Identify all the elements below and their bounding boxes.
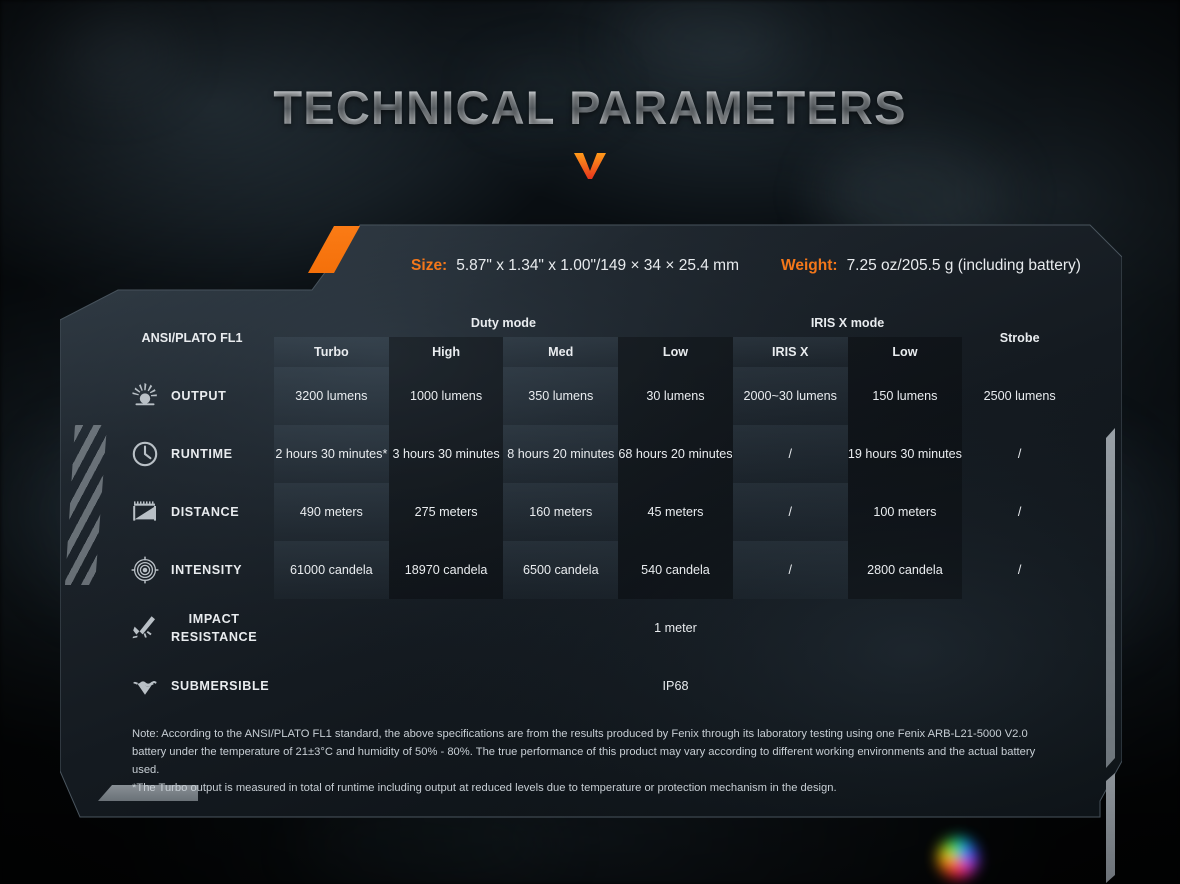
row-label-text: RUNTIME xyxy=(171,445,233,463)
table-corner-label: ANSI/PLATO FL1 xyxy=(110,309,274,367)
cell-output-turbo: 3200 lumens xyxy=(274,367,389,425)
target-intensity-icon xyxy=(130,555,160,585)
table-body: OUTPUT 3200 lumens 1000 lumens 350 lumen… xyxy=(110,367,1077,715)
spec-panel: Size: 5.87" x 1.34" x 1.00"/149 × 34 × 2… xyxy=(60,205,1122,825)
cell-distance-iris-low: 100 meters xyxy=(848,483,963,541)
column-header-iris-x: IRIS X xyxy=(733,337,848,367)
row-label-text: IMPACT RESISTANCE xyxy=(171,610,257,647)
size-label: Size: xyxy=(411,257,447,275)
chevron-down-icon xyxy=(573,152,607,180)
cell-output-iris-x: 2000~30 lumens xyxy=(733,367,848,425)
row-label-text: SUBMERSIBLE xyxy=(171,677,269,695)
cell-distance-med: 160 meters xyxy=(503,483,618,541)
impact-resistance-icon xyxy=(130,613,160,643)
size-weight-bar: Size: 5.87" x 1.34" x 1.00"/149 × 34 × 2… xyxy=(360,225,1122,307)
cell-output-strobe: 2500 lumens xyxy=(962,367,1077,425)
footnote-line-1: Note: According to the ANSI/PLATO FL1 st… xyxy=(132,725,1062,779)
cell-distance-turbo: 490 meters xyxy=(274,483,389,541)
cell-intensity-high: 18970 candela xyxy=(389,541,504,599)
cell-intensity-turbo: 61000 candela xyxy=(274,541,389,599)
cell-runtime-high: 3 hours 30 minutes xyxy=(389,425,504,483)
cell-submersible-value: IP68 xyxy=(274,657,1077,715)
row-label-text: OUTPUT xyxy=(171,387,226,405)
cell-impact-resistance-value: 1 meter xyxy=(274,599,1077,657)
row-label-runtime: RUNTIME xyxy=(110,425,274,483)
table-row: INTENSITY 61000 candela 18970 candela 65… xyxy=(110,541,1077,599)
cell-output-low: 30 lumens xyxy=(618,367,733,425)
table-row: DISTANCE 490 meters 275 meters 160 meter… xyxy=(110,483,1077,541)
cell-runtime-iris-x: / xyxy=(733,425,848,483)
row-label-text: DISTANCE xyxy=(171,503,239,521)
cell-distance-iris-x: / xyxy=(733,483,848,541)
column-header-turbo: Turbo xyxy=(274,337,389,367)
cell-distance-high: 275 meters xyxy=(389,483,504,541)
right-accent-bar xyxy=(1106,428,1115,768)
cell-intensity-med: 6500 candela xyxy=(503,541,618,599)
row-label-submersible: SUBMERSIBLE xyxy=(110,657,274,715)
cell-intensity-iris-x: / xyxy=(733,541,848,599)
table-header: ANSI/PLATO FL1 Duty mode IRIS X mode Str… xyxy=(110,309,1077,367)
cell-output-high: 1000 lumens xyxy=(389,367,504,425)
cell-output-iris-low: 150 lumens xyxy=(848,367,963,425)
row-label-text: INTENSITY xyxy=(171,561,242,579)
cell-intensity-low: 540 candela xyxy=(618,541,733,599)
cell-intensity-iris-low: 2800 candela xyxy=(848,541,963,599)
table-header-groups: ANSI/PLATO FL1 Duty mode IRIS X mode Str… xyxy=(110,309,1077,337)
group-header-strobe: Strobe xyxy=(962,309,1077,367)
footnote-line-2: *The Turbo output is measured in total o… xyxy=(132,779,1062,797)
right-accent-bar-lower xyxy=(1106,773,1115,883)
column-header-high: High xyxy=(389,337,504,367)
weight-value: 7.25 oz/205.5 g (including battery) xyxy=(847,257,1081,275)
table-row: RUNTIME 2 hours 30 minutes* 3 hours 30 m… xyxy=(110,425,1077,483)
cell-runtime-med: 8 hours 20 minutes xyxy=(503,425,618,483)
beam-distance-icon xyxy=(130,497,160,527)
group-header-duty-mode: Duty mode xyxy=(274,309,733,337)
cell-runtime-iris-low: 19 hours 30 minutes xyxy=(848,425,963,483)
cell-distance-strobe: / xyxy=(962,483,1077,541)
column-header-low: Low xyxy=(618,337,733,367)
table-row: IMPACT RESISTANCE 1 meter xyxy=(110,599,1077,657)
cell-runtime-strobe: / xyxy=(962,425,1077,483)
submersible-icon xyxy=(130,671,160,701)
cell-runtime-turbo: 2 hours 30 minutes* xyxy=(274,425,389,483)
group-header-iris-x-mode: IRIS X mode xyxy=(733,309,962,337)
cell-intensity-strobe: / xyxy=(962,541,1077,599)
specifications-table: ANSI/PLATO FL1 Duty mode IRIS X mode Str… xyxy=(110,309,1077,715)
weight-group: Weight: 7.25 oz/205.5 g (including batte… xyxy=(781,257,1081,275)
cell-output-med: 350 lumens xyxy=(503,367,618,425)
table-row: OUTPUT 3200 lumens 1000 lumens 350 lumen… xyxy=(110,367,1077,425)
footnote: Note: According to the ANSI/PLATO FL1 st… xyxy=(132,725,1062,798)
weight-label: Weight: xyxy=(781,257,838,275)
row-label-impact-resistance: IMPACT RESISTANCE xyxy=(110,599,274,657)
cell-runtime-low: 68 hours 20 minutes xyxy=(618,425,733,483)
cell-distance-low: 45 meters xyxy=(618,483,733,541)
column-header-med: Med xyxy=(503,337,618,367)
size-group: Size: 5.87" x 1.34" x 1.00"/149 × 34 × 2… xyxy=(411,257,739,275)
sunburst-icon xyxy=(130,381,160,411)
column-header-low-iris: Low xyxy=(848,337,963,367)
color-wheel-glow xyxy=(938,838,978,878)
table-row: SUBMERSIBLE IP68 xyxy=(110,657,1077,715)
row-label-intensity: INTENSITY xyxy=(110,541,274,599)
size-value: 5.87" x 1.34" x 1.00"/149 × 34 × 25.4 mm xyxy=(456,257,739,275)
row-label-distance: DISTANCE xyxy=(110,483,274,541)
clock-icon xyxy=(130,439,160,469)
row-label-output: OUTPUT xyxy=(110,367,274,425)
page-title: TECHNICAL PARAMETERS xyxy=(0,80,1180,135)
